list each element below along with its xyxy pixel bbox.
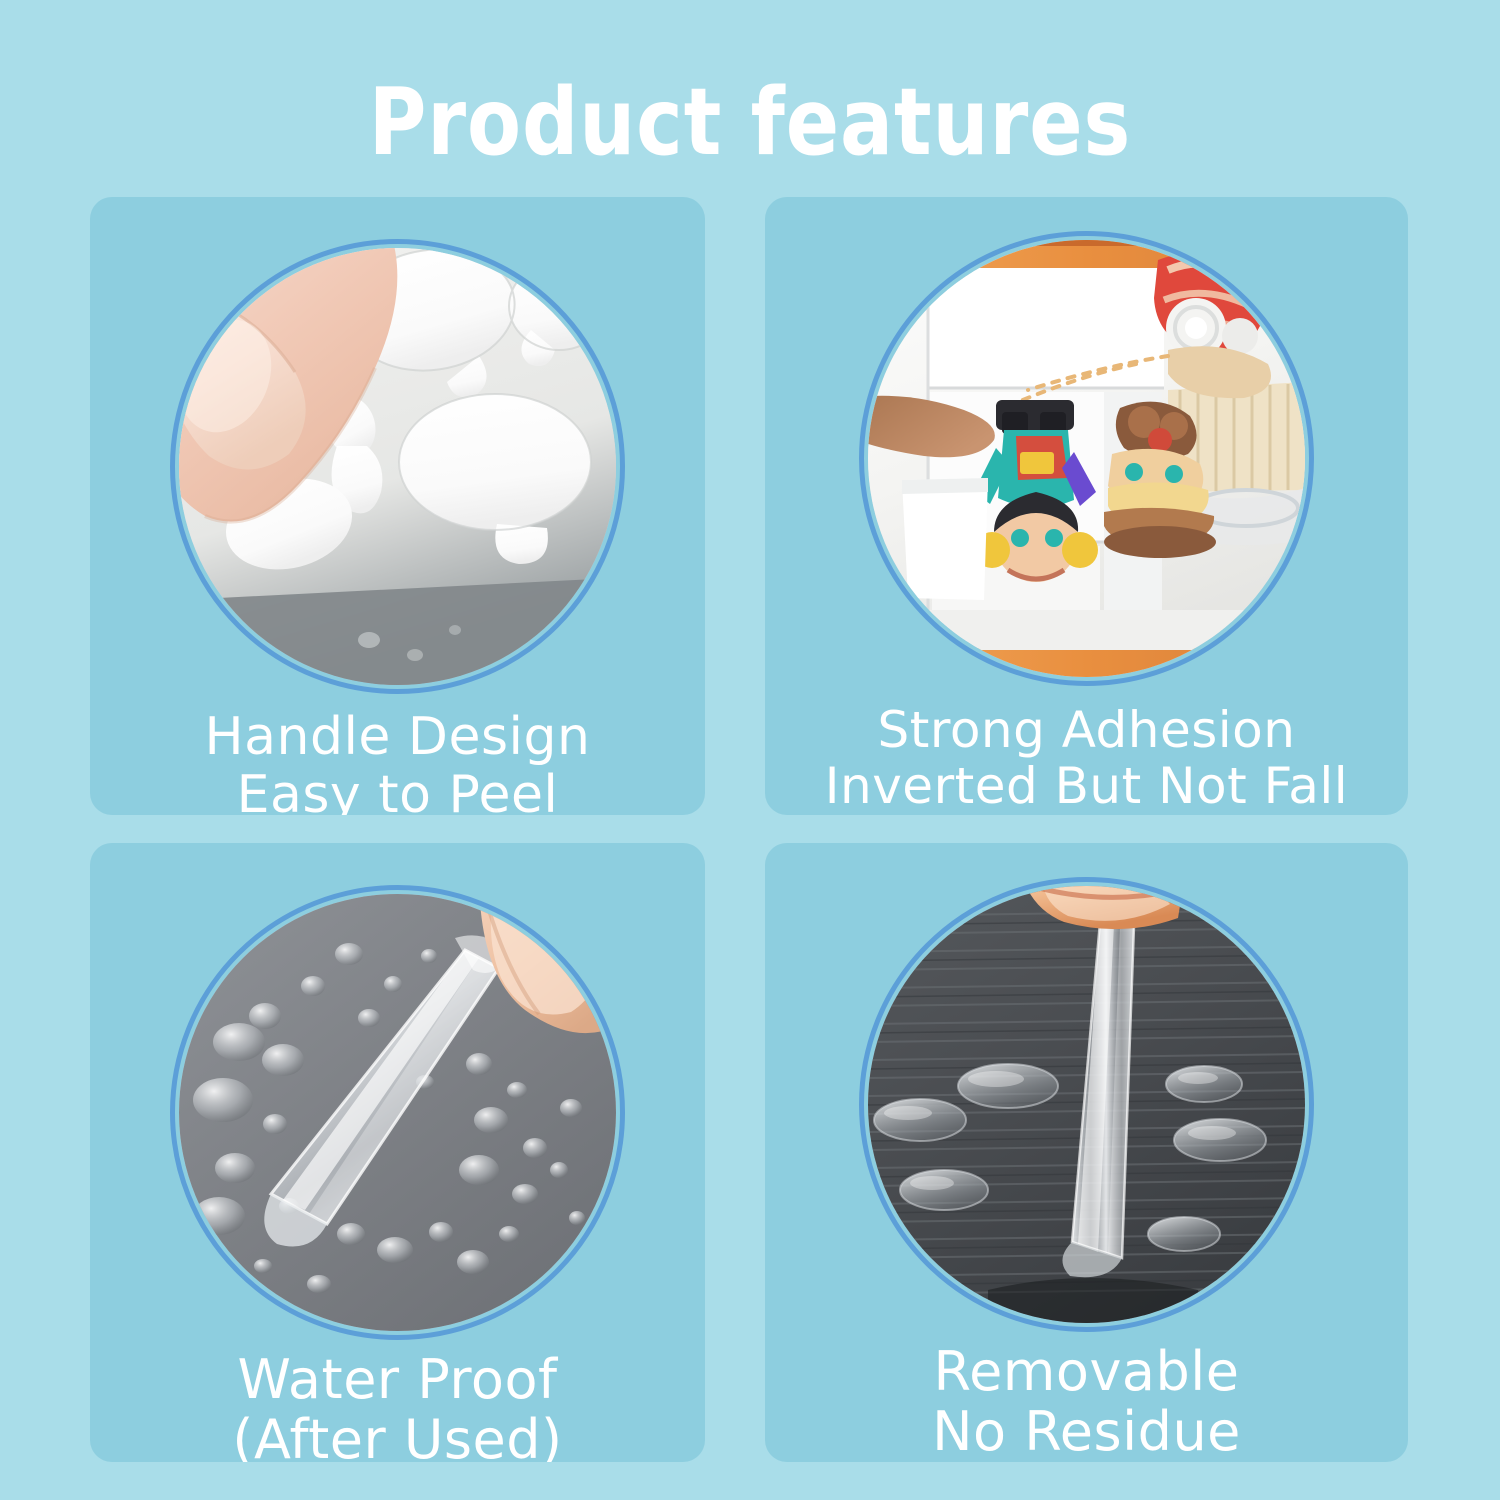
feature-image-removable bbox=[859, 877, 1314, 1332]
caption-line-2: Easy to Peel bbox=[205, 766, 591, 815]
page-title: Product features bbox=[45, 74, 1455, 172]
feature-caption-handle-design: Handle Design Easy to Peel bbox=[197, 708, 599, 815]
feature-caption-strong-adhesion: Strong Adhesion Inverted But Not Fall bbox=[817, 702, 1356, 814]
caption-line-2: No Residue bbox=[932, 1402, 1241, 1462]
caption-line-1: Handle Design bbox=[205, 707, 591, 767]
feature-caption-water-proof: Water Proof (After Used) bbox=[224, 1350, 570, 1462]
caption-line-1: Strong Adhesion bbox=[878, 701, 1296, 759]
product-features-page: Product features bbox=[0, 0, 1500, 1500]
toys-stuck-upside-down-photo bbox=[868, 240, 1305, 677]
caption-line-1: Removable bbox=[933, 1340, 1239, 1403]
feature-image-strong-adhesion bbox=[859, 231, 1314, 686]
feature-card-removable: Removable No Residue bbox=[765, 843, 1408, 1462]
clear-strip-on-wet-grey-surface-photo bbox=[179, 894, 616, 1331]
feature-image-water-proof bbox=[170, 885, 625, 1340]
feature-card-handle-design: Handle Design Easy to Peel bbox=[90, 197, 705, 815]
finger-peeling-white-adhesive-dots-photo bbox=[179, 248, 616, 685]
caption-line-2: (After Used) bbox=[232, 1410, 562, 1462]
feature-card-water-proof: Water Proof (After Used) bbox=[90, 843, 705, 1462]
feature-image-handle-design bbox=[170, 239, 625, 694]
clear-strip-peeled-from-dark-wood-photo bbox=[868, 886, 1305, 1323]
feature-card-grid: Handle Design Easy to Peel bbox=[90, 197, 1408, 1462]
caption-line-1: Water Proof bbox=[237, 1348, 557, 1411]
caption-line-2: Inverted But Not Fall bbox=[825, 758, 1348, 814]
feature-card-strong-adhesion: Strong Adhesion Inverted But Not Fall bbox=[765, 197, 1408, 815]
feature-caption-removable: Removable No Residue bbox=[924, 1342, 1249, 1462]
